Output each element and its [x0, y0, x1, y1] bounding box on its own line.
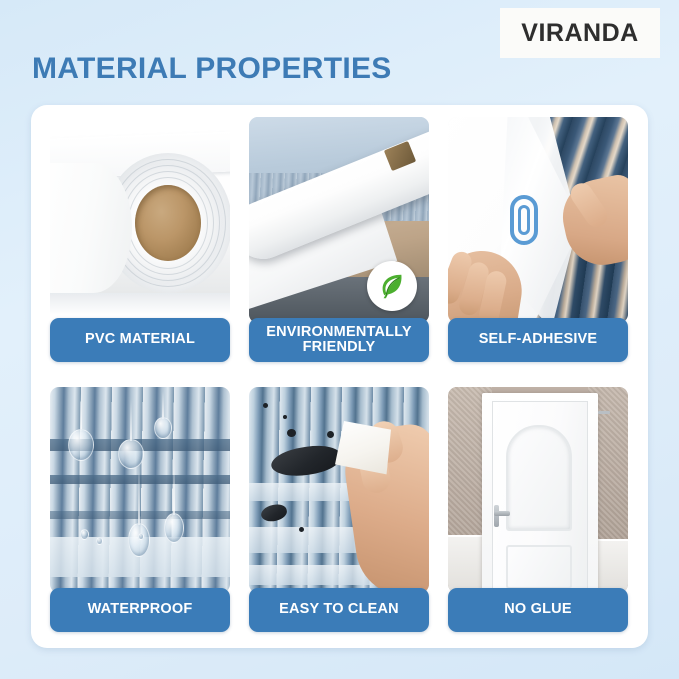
- leaf-icon: [377, 271, 407, 301]
- door-panel-top: [506, 425, 572, 531]
- droplet-trail: [130, 399, 132, 441]
- feature-card-self-adhesive[interactable]: SELF-ADHESIVE: [448, 117, 628, 362]
- surface-band: [50, 475, 230, 484]
- door-handle: [494, 511, 510, 516]
- pvc-roll-photo: [50, 117, 230, 323]
- feature-card-pvc-material[interactable]: PVC MATERIAL: [50, 117, 230, 362]
- card-label-bar: EASY TO CLEAN: [249, 588, 429, 632]
- card-label-bar: PVC MATERIAL: [50, 318, 230, 362]
- feature-card-environmentally-friendly[interactable]: ENVIRONMENTALLY FRIENDLY: [249, 117, 429, 362]
- infographic-page: VIRANDA MATERIAL PROPERTIES: [0, 0, 679, 679]
- card-label-text: WATERPROOF: [88, 602, 193, 617]
- stain-dot: [327, 431, 334, 438]
- eco-badge: [367, 261, 417, 311]
- card-label-bar: NO GLUE: [448, 588, 628, 632]
- droplet-trail: [162, 391, 164, 419]
- brand-name: VIRANDA: [521, 19, 638, 48]
- page-title: MATERIAL PROPERTIES: [32, 52, 392, 86]
- feature-panel: PVC MATERIAL: [31, 105, 648, 648]
- wiping-stain-photo: [249, 387, 429, 593]
- card-label-bar: SELF-ADHESIVE: [448, 318, 628, 362]
- card-label-line-2: FRIENDLY: [303, 339, 376, 355]
- feature-grid: PVC MATERIAL: [50, 117, 629, 636]
- white-door-photo: [448, 387, 628, 593]
- stain-smudge: [269, 442, 342, 479]
- card-label-text: SELF-ADHESIVE: [479, 332, 598, 347]
- card-label-text: EASY TO CLEAN: [279, 602, 399, 617]
- water-droplet: [138, 533, 144, 540]
- paperclip-logo-inner-icon: [518, 205, 530, 235]
- stain-dot: [299, 527, 304, 532]
- water-droplet: [96, 537, 103, 545]
- door-handle-plate: [494, 505, 499, 527]
- peeling-wallpaper-photo: [448, 117, 628, 323]
- feature-card-waterproof[interactable]: WATERPROOF: [50, 387, 230, 632]
- stain-dot: [283, 415, 287, 419]
- droplet-trail: [138, 461, 140, 525]
- droplet-trail: [173, 459, 175, 515]
- roll-front-sheet: [50, 163, 132, 293]
- feature-card-no-glue[interactable]: NO GLUE: [448, 387, 628, 632]
- feature-card-easy-to-clean[interactable]: EASY TO CLEAN: [249, 387, 429, 632]
- stain-dot: [287, 429, 296, 437]
- rolled-wallpaper-photo: [249, 117, 429, 323]
- water-droplet: [128, 523, 150, 557]
- water-droplet: [164, 513, 184, 543]
- door-hinge: [598, 411, 610, 414]
- card-label-text: PVC MATERIAL: [85, 332, 195, 347]
- card-label-text: ENVIRONMENTALLY FRIENDLY: [266, 325, 412, 355]
- card-label-bar: ENVIRONMENTALLY FRIENDLY: [249, 318, 429, 362]
- brand-logo-badge: VIRANDA: [500, 8, 660, 58]
- surface-band: [50, 511, 230, 519]
- roll-cardboard-core: [135, 185, 201, 261]
- card-label-bar: WATERPROOF: [50, 588, 230, 632]
- card-label-line-1: ENVIRONMENTALLY: [266, 324, 412, 340]
- stain-dot: [263, 403, 268, 408]
- stain-smudge: [260, 502, 289, 523]
- water-droplet: [80, 529, 89, 540]
- door-panel-bottom: [506, 545, 572, 589]
- water-droplet: [154, 417, 172, 439]
- water-droplet: [68, 429, 94, 461]
- card-label-text: NO GLUE: [504, 602, 571, 617]
- water-droplet: [118, 439, 144, 469]
- droplet-trail: [80, 393, 82, 431]
- water-droplets-photo: [50, 387, 230, 593]
